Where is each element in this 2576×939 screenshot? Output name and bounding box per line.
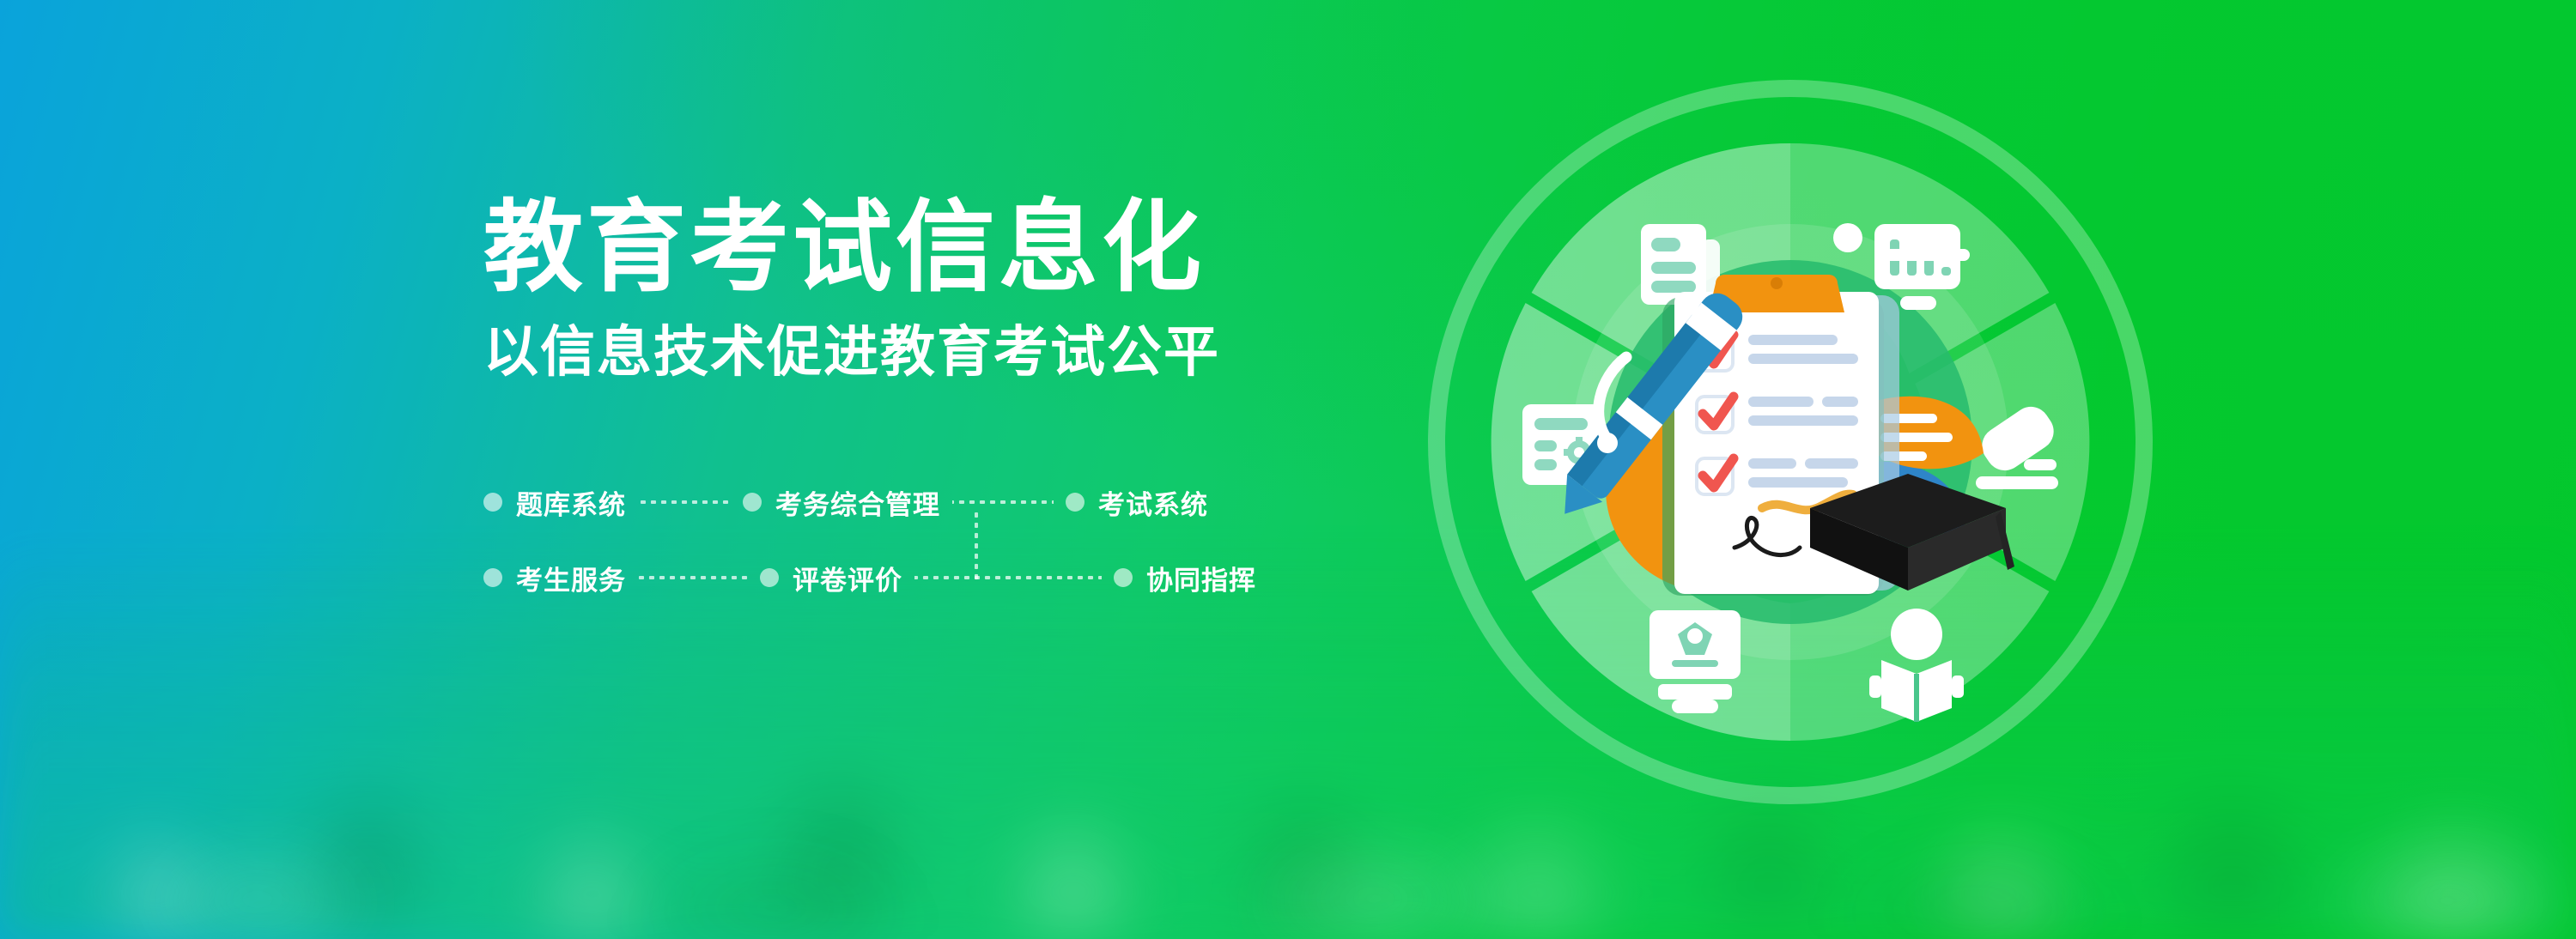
background-crowd-blur-2	[0, 647, 2576, 939]
dotted-connector	[638, 500, 731, 504]
feature-row-1: 题库系统 考务综合管理 考试系统	[483, 476, 1273, 528]
feature-label: 考务综合管理	[775, 483, 940, 522]
hero-banner: 教育考试信息化 以信息技术促进教育考试公平 题库系统 考务综合管理 考试系统	[0, 0, 2576, 939]
dotted-connector	[952, 500, 1054, 504]
feature-item-candidate-service[interactable]: 考生服务	[483, 559, 626, 597]
dotted-connector-vertical	[975, 510, 978, 582]
dot-bullet-icon	[743, 493, 762, 512]
dot-bullet-icon	[760, 568, 779, 587]
feature-item-coordination[interactable]: 协同指挥	[1114, 559, 1256, 597]
dotted-connector	[914, 576, 1102, 579]
feature-label: 考试系统	[1098, 483, 1208, 522]
page-title: 教育考试信息化	[483, 196, 1342, 300]
dot-and-lines-icon	[1833, 223, 1970, 261]
dot-bullet-icon	[1066, 493, 1084, 512]
dotted-connector	[638, 576, 748, 579]
banner-copy: 教育考试信息化 以信息技术促进教育考试公平	[483, 196, 1342, 383]
feature-item-question-bank[interactable]: 题库系统	[483, 483, 626, 522]
dot-bullet-icon	[483, 493, 502, 512]
feature-item-exam-system[interactable]: 考试系统	[1066, 483, 1208, 522]
dot-bullet-icon	[483, 568, 502, 587]
feature-label: 题库系统	[516, 483, 626, 522]
center-illustration	[1537, 206, 2052, 695]
feature-list: 题库系统 考务综合管理 考试系统 考生服务 评卷评价	[483, 476, 1273, 603]
feature-row-2: 考生服务 评卷评价 协同指挥	[483, 552, 1273, 603]
dot-bullet-icon	[1114, 568, 1133, 587]
feature-label: 协同指挥	[1146, 559, 1256, 597]
feature-item-grading[interactable]: 评卷评价	[760, 559, 902, 597]
page-subtitle: 以信息技术促进教育考试公平	[483, 323, 1342, 383]
feature-label: 评卷评价	[793, 559, 902, 597]
feature-label: 考生服务	[516, 559, 626, 597]
feature-item-exam-admin[interactable]: 考务综合管理	[743, 483, 940, 522]
